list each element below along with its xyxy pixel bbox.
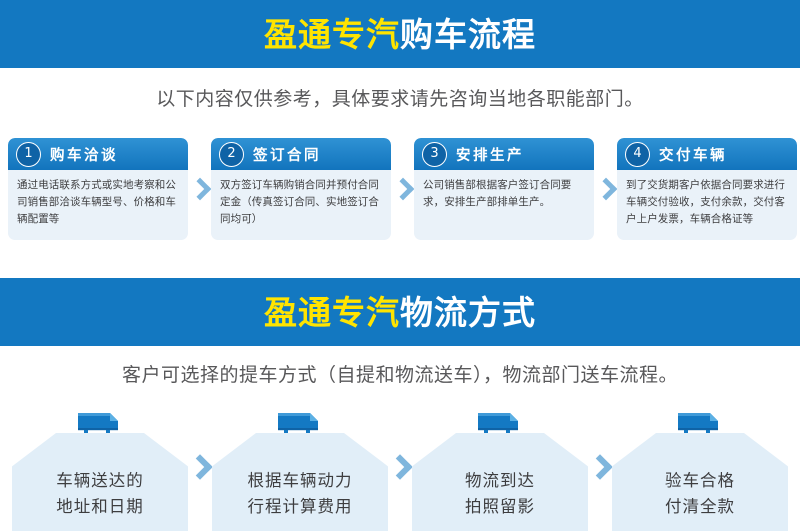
brand-name-bottom: 盈通专汽 [264,293,400,332]
logistics-label-2-line2: 行程计算费用 [212,494,388,521]
brand-name-top: 盈通专汽 [264,15,400,54]
truck-icon [274,408,326,438]
step-title-3: 安排生产 [456,144,524,165]
step-title-4: 交付车辆 [659,144,727,165]
logistics-label-2: 根据车辆动力 行程计算费用 [212,468,388,521]
step-number-badge-1: 1 [16,142,41,167]
logistics-card-4: 验车合格 付清全款 [612,408,788,531]
logistics-label-1-line2: 地址和日期 [12,494,188,521]
step-arrow-3 [594,138,617,240]
step-body-3: 公司销售部根据客户签订合同要求，安排生产部排单生产。 [414,170,594,211]
step-header-4: 4 交付车辆 [617,138,797,170]
logistics-label-2-line1: 根据车辆动力 [212,468,388,495]
step-header-1: 1 购车洽谈 [8,138,188,170]
truck-icon [474,408,526,438]
chevron-right-icon [387,454,412,479]
step-card-4: 4 交付车辆 到了交货期客户依据合同要求进行车辆交付验收，支付余款，交付客户上户… [617,138,797,240]
step-arrow-1 [188,138,211,240]
header-banner-purchase: 盈通专汽购车流程 [0,0,800,68]
logistics-label-3-line2: 拍照留影 [412,494,588,521]
logistics-label-4-line2: 付清全款 [612,494,788,521]
logistics-card-2: 根据车辆动力 行程计算费用 [212,408,388,531]
chevron-right-icon [188,178,211,201]
logistics-label-3-line1: 物流到达 [412,468,588,495]
logistics-label-1: 车辆送达的 地址和日期 [12,468,188,521]
logistics-steps-row: 车辆送达的 地址和日期 根据车辆动力 行程计算费用 [12,408,788,531]
step-body-4: 到了交货期客户依据合同要求进行车辆交付验收，支付余款，交付客户上户发票，车辆合格… [617,170,797,228]
logistics-arrow-2 [388,408,412,531]
step-number-badge-3: 3 [422,142,447,167]
step-body-1: 通过电话联系方式或实地考察和公司销售部洽谈车辆型号、价格和车辆配置等 [8,170,188,228]
logistics-label-1-line1: 车辆送达的 [12,468,188,495]
step-header-3: 3 安排生产 [414,138,594,170]
truck-icon [74,408,126,438]
chevron-right-icon [187,454,212,479]
step-arrow-2 [391,138,414,240]
step-body-2: 双方签订车辆购销合同并预付合同定金（传真签订合同、实地签订合同均可） [211,170,391,228]
step-card-3: 3 安排生产 公司销售部根据客户签订合同要求，安排生产部排单生产。 [414,138,594,240]
banner-title-logistics: 盈通专汽物流方式 [264,296,536,329]
logistics-label-4: 验车合格 付清全款 [612,468,788,521]
step-card-2: 2 签订合同 双方签订车辆购销合同并预付合同定金（传真签订合同、实地签订合同均可… [211,138,391,240]
step-title-1: 购车洽谈 [50,144,118,165]
banner-title-purchase: 盈通专汽购车流程 [264,18,536,51]
logistics-label-3: 物流到达 拍照留影 [412,468,588,521]
step-title-2: 签订合同 [253,144,321,165]
purchase-steps-row: 1 购车洽谈 通过电话联系方式或实地考察和公司销售部洽谈车辆型号、价格和车辆配置… [8,138,792,243]
step-number-badge-4: 4 [625,142,650,167]
chevron-right-icon [391,178,414,201]
chevron-right-icon [594,178,617,201]
logistics-arrow-1 [188,408,212,531]
truck-icon [674,408,726,438]
logistics-card-1: 车辆送达的 地址和日期 [12,408,188,531]
logistics-arrow-3 [588,408,612,531]
purchase-subtitle: 以下内容仅供参考，具体要求请先咨询当地各职能部门。 [0,84,800,111]
step-card-1: 1 购车洽谈 通过电话联系方式或实地考察和公司销售部洽谈车辆型号、价格和车辆配置… [8,138,188,240]
header-banner-logistics: 盈通专汽物流方式 [0,278,800,346]
chevron-right-icon [587,454,612,479]
logistics-label-4-line1: 验车合格 [612,468,788,495]
step-number-badge-2: 2 [219,142,244,167]
logistics-subtitle: 客户可选择的提车方式（自提和物流送车），物流部门送车流程。 [0,360,800,387]
step-header-2: 2 签订合同 [211,138,391,170]
banner-subject-bottom: 物流方式 [400,293,536,332]
logistics-card-3: 物流到达 拍照留影 [412,408,588,531]
banner-subject-top: 购车流程 [400,15,536,54]
